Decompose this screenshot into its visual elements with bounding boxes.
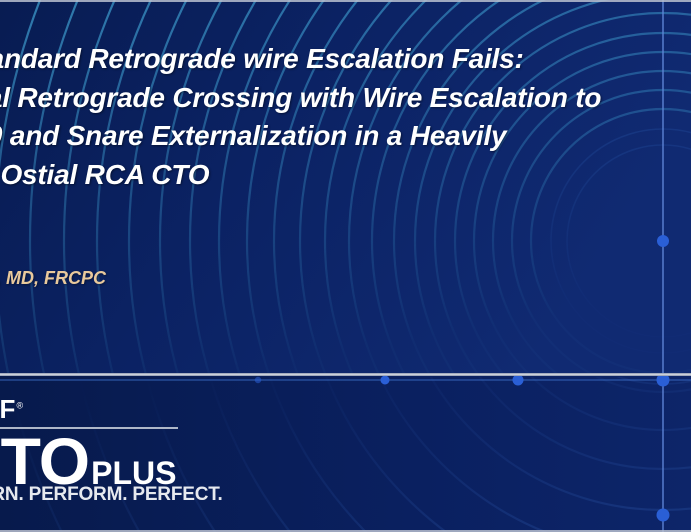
top-hairline xyxy=(0,0,691,2)
page-title: When Standard Retrograde wire Escalation… xyxy=(0,40,691,194)
brand-tagline: LEARN. PERFORM. PERFECT. xyxy=(0,484,223,506)
title-line-3: Astato 40 and Snare Externalization in a… xyxy=(0,117,691,156)
logo-lockup: CRF® CTO PLUS LEARN. PERFORM. PERFECT. xyxy=(0,376,691,530)
registered-trademark-icon: ® xyxy=(16,400,24,410)
title-line-4: Calcified Ostial RCA CTO xyxy=(0,156,691,195)
presenter-name: Abdula Mahdi, MD, FRCPC xyxy=(0,268,106,289)
crf-wordmark-text: CRF xyxy=(0,394,16,424)
title-slide: When Standard Retrograde wire Escalation… xyxy=(0,0,691,532)
title-line-2: Epicardial Retrograde Crossing with Wire… xyxy=(0,79,691,118)
title-line-1: When Standard Retrograde wire Escalation… xyxy=(0,40,691,79)
crf-wordmark: CRF® xyxy=(0,394,24,425)
